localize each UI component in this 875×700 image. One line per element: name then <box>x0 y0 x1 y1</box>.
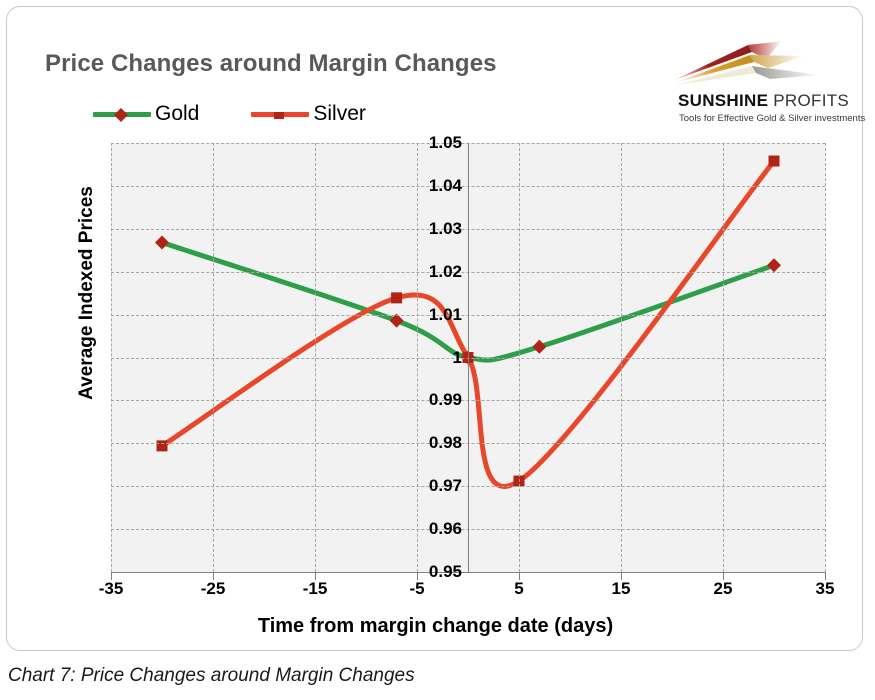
logo-tagline: Tools for Effective Gold & Silver invest… <box>679 113 865 124</box>
x-axis-title: Time from margin change date (days) <box>7 615 864 638</box>
sunburst-rays-logo-icon <box>670 35 840 87</box>
y-tick-label: 1.02 <box>400 262 462 282</box>
chart-title: Price Changes around Margin Changes <box>45 50 497 78</box>
x-axis-tick <box>315 572 316 580</box>
y-tick-label: 0.97 <box>400 476 462 496</box>
legend-swatch-silver <box>251 104 309 124</box>
logo-name-light: PROFITS <box>768 91 849 110</box>
figure-caption: Chart 7: Price Changes around Margin Cha… <box>8 665 415 687</box>
chart-card: Price Changes around Margin Changes Gold… <box>6 6 863 651</box>
gridline-vertical <box>111 143 112 572</box>
y-tick-label: 1.01 <box>400 305 462 325</box>
chart-legend: Gold Silver <box>93 102 366 126</box>
x-tick-label: -15 <box>303 579 328 599</box>
y-tick-label: 0.98 <box>400 433 462 453</box>
x-axis-tick <box>621 572 622 580</box>
x-tick-label: -35 <box>99 579 124 599</box>
plot-area <box>111 143 825 572</box>
logo-wordmark: SUNSHINE PROFITS <box>678 91 849 111</box>
screenshot-root: Price Changes around Margin Changes Gold… <box>0 0 875 700</box>
y-tick-label: 1.04 <box>400 176 462 196</box>
x-tick-label: 25 <box>714 579 733 599</box>
legend-label-silver: Silver <box>313 102 366 126</box>
y-tick-label: 0.99 <box>400 390 462 410</box>
x-tick-label: -5 <box>409 579 424 599</box>
gridline-vertical <box>825 143 826 572</box>
legend-item-silver[interactable]: Silver <box>251 102 366 126</box>
gridline-vertical <box>519 143 520 572</box>
y-axis-line <box>468 143 469 572</box>
legend-swatch-gold <box>93 104 151 124</box>
x-axis-tick <box>111 572 112 580</box>
x-tick-label: 15 <box>612 579 631 599</box>
data-point-marker-silver[interactable] <box>391 292 402 303</box>
y-tick-label: 1.03 <box>400 219 462 239</box>
x-axis-line <box>111 572 825 573</box>
gridline-vertical <box>723 143 724 572</box>
y-tick-label: 1.05 <box>400 133 462 153</box>
y-axis-title: Average Indexed Prices <box>76 173 98 413</box>
data-point-marker-silver[interactable] <box>769 156 780 167</box>
legend-item-gold[interactable]: Gold <box>93 102 199 126</box>
x-tick-label: -25 <box>201 579 226 599</box>
x-tick-label: 5 <box>514 579 523 599</box>
data-point-marker-gold[interactable] <box>155 236 169 250</box>
gridline-vertical <box>315 143 316 572</box>
square-marker-icon <box>272 108 286 122</box>
data-point-marker-gold[interactable] <box>767 258 781 272</box>
logo-name-bold: SUNSHINE <box>678 91 768 110</box>
gridline-vertical <box>213 143 214 572</box>
brand-logo: SUNSHINE PROFITS Tools for Effective Gol… <box>670 35 840 127</box>
x-axis-tick <box>825 572 826 580</box>
y-tick-label: 1 <box>400 348 462 368</box>
x-axis-tick <box>519 572 520 580</box>
diamond-marker-icon <box>114 108 128 122</box>
x-axis-tick <box>213 572 214 580</box>
x-axis-tick <box>417 572 418 580</box>
legend-label-gold: Gold <box>155 102 199 126</box>
x-tick-label: 35 <box>816 579 835 599</box>
data-point-marker-gold[interactable] <box>532 340 546 354</box>
x-axis-tick <box>723 572 724 580</box>
gridline-vertical <box>621 143 622 572</box>
y-tick-label: 0.96 <box>400 519 462 539</box>
data-point-marker-silver[interactable] <box>157 440 168 451</box>
